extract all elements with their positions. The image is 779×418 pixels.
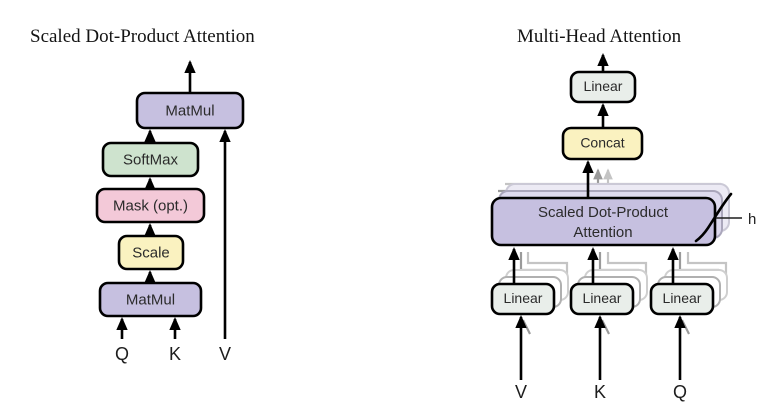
panel-title-left: Scaled Dot-Product Attention: [30, 26, 255, 47]
node-linear-v-label: Linear: [504, 290, 543, 306]
input-label-k-mha: K: [594, 382, 606, 402]
node-linear-out-label: Linear: [584, 78, 623, 94]
input-label-v-mha: V: [515, 382, 527, 402]
input-label-q: Q: [115, 344, 129, 364]
node-linear-out[interactable]: Linear: [571, 72, 635, 102]
attention-diagram-svg: Scaled Dot-Product Attention MatMul Soft…: [0, 0, 779, 418]
node-scale[interactable]: Scale: [119, 236, 183, 269]
node-sdpa-label-line2: Attention: [573, 224, 632, 241]
input-label-v: V: [219, 344, 231, 364]
node-mask-label: Mask (opt.): [113, 197, 188, 214]
input-label-k: K: [169, 344, 181, 364]
node-linear-k-label: Linear: [583, 290, 622, 306]
node-softmax-label: SoftMax: [123, 151, 179, 168]
node-linear-q-label: Linear: [663, 290, 702, 306]
node-sdpa[interactable]: Scaled Dot-Product Attention: [492, 198, 715, 245]
node-mask[interactable]: Mask (opt.): [97, 189, 204, 222]
node-matmul-bottom[interactable]: MatMul: [100, 283, 201, 316]
node-linear-v[interactable]: Linear: [492, 284, 554, 314]
node-matmul-top[interactable]: MatMul: [137, 93, 243, 128]
node-linear-q[interactable]: Linear: [651, 284, 713, 314]
node-scale-label: Scale: [132, 244, 170, 261]
panel-title-right: Multi-Head Attention: [517, 26, 682, 47]
heads-count-label: h: [748, 211, 756, 228]
node-concat-label: Concat: [580, 135, 624, 151]
node-matmul-bottom-label: MatMul: [126, 291, 175, 308]
attention-figure: Scaled Dot-Product Attention MatMul Soft…: [0, 0, 779, 418]
node-linear-k[interactable]: Linear: [571, 284, 633, 314]
node-concat[interactable]: Concat: [563, 128, 642, 159]
input-label-q-mha: Q: [673, 382, 687, 402]
node-sdpa-label-line1: Scaled Dot-Product: [538, 204, 669, 221]
node-matmul-top-label: MatMul: [165, 102, 214, 119]
node-softmax[interactable]: SoftMax: [103, 143, 198, 176]
